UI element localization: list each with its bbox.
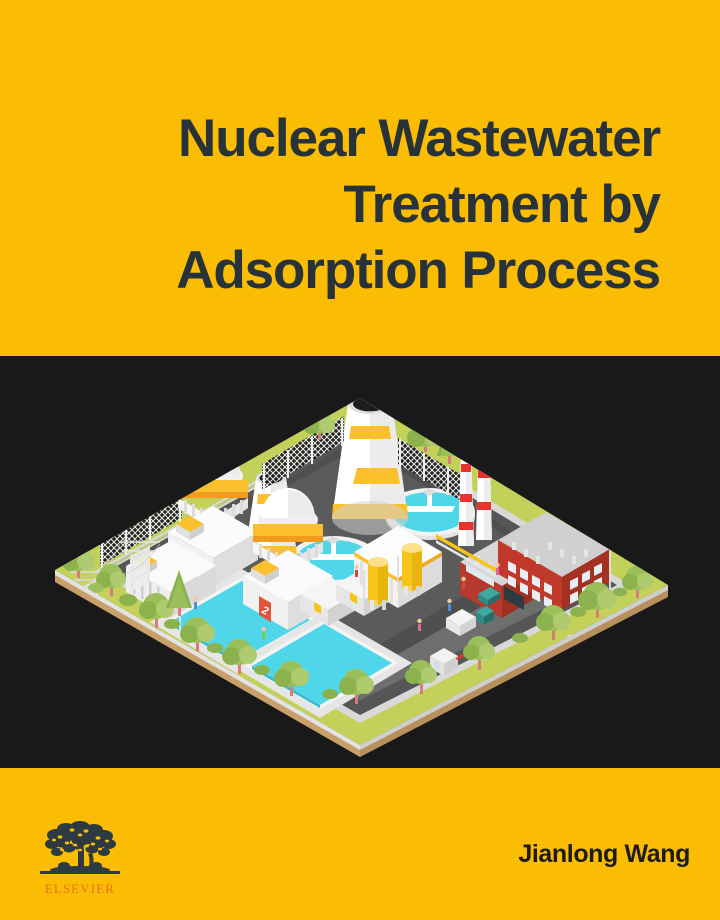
page-title: Nuclear Wastewater Treatment by Adsorpti…: [0, 106, 690, 304]
cover-illustration-band: 1: [0, 356, 720, 768]
elsevier-tree-icon: [38, 814, 122, 880]
author-name: Jianlong Wang: [518, 840, 690, 869]
isometric-nuclear-power-plant-illustration: 1: [0, 356, 720, 768]
storage-tank-a: [368, 557, 388, 610]
storage-tank-b: [402, 543, 422, 596]
conifer-tree: [504, 438, 530, 488]
book-cover: 1: [0, 0, 720, 920]
elsevier-wordmark: ELSEVIER: [38, 882, 122, 897]
title-line-1: Nuclear Wastewater: [0, 106, 660, 172]
title-line-3: Adsorption Process: [0, 238, 660, 304]
smokestack-tall: [476, 421, 492, 540]
title-line-2: Treatment by: [0, 172, 660, 238]
elsevier-logo: ELSEVIER: [38, 814, 130, 902]
